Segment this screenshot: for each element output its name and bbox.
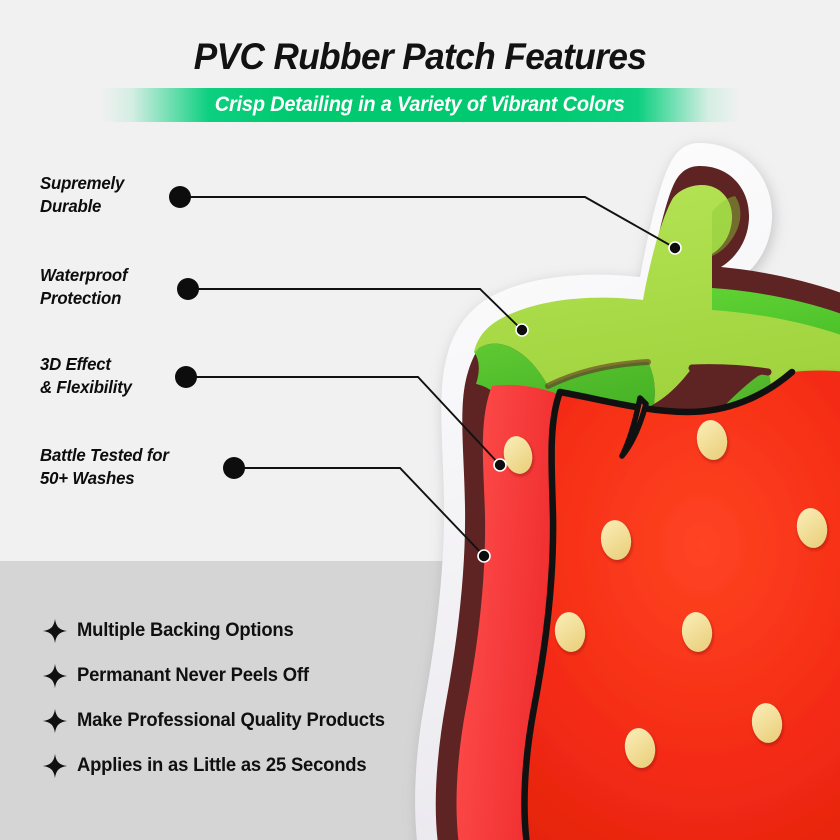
sparkle-icon [40,753,70,779]
callout-label-waterproof: Waterproof Protection [40,264,127,310]
page-title: PVC Rubber Patch Features [21,36,819,78]
list-item: Applies in as Little as 25 Seconds [40,743,500,788]
list-item: Permanant Never Peels Off [40,653,500,698]
callout-dot-4 [223,457,245,479]
callout-label-durability: Supremely Durable [40,172,124,218]
subtitle-banner: Crisp Detailing in a Variety of Vibrant … [100,88,740,122]
infographic-canvas: Supremely Durable Waterproof Protection … [0,0,840,840]
callout-endpoint-2 [516,324,528,336]
feature-label: Applies in as Little as 25 Seconds [77,755,366,777]
feature-list: Multiple Backing Options Permanant Never… [40,608,500,788]
feature-label: Make Professional Quality Products [77,710,385,732]
sparkle-icon [40,618,70,644]
sparkle-icon [40,708,70,734]
list-item: Multiple Backing Options [40,608,500,653]
callout-endpoint-4 [478,550,490,562]
subtitle-text: Crisp Detailing in a Variety of Vibrant … [215,93,625,117]
callout-dot-1 [169,186,191,208]
callout-endpoint-1 [669,242,681,254]
callout-endpoint-3 [494,459,506,471]
sparkle-icon [40,663,70,689]
callout-dot-2 [177,278,199,300]
callout-label-3d-effect: 3D Effect & Flexibility [40,353,132,399]
feature-label: Multiple Backing Options [77,620,294,642]
list-item: Make Professional Quality Products [40,698,500,743]
callout-dot-3 [175,366,197,388]
callout-label-wash-tested: Battle Tested for 50+ Washes [40,444,169,490]
feature-label: Permanant Never Peels Off [77,665,309,687]
